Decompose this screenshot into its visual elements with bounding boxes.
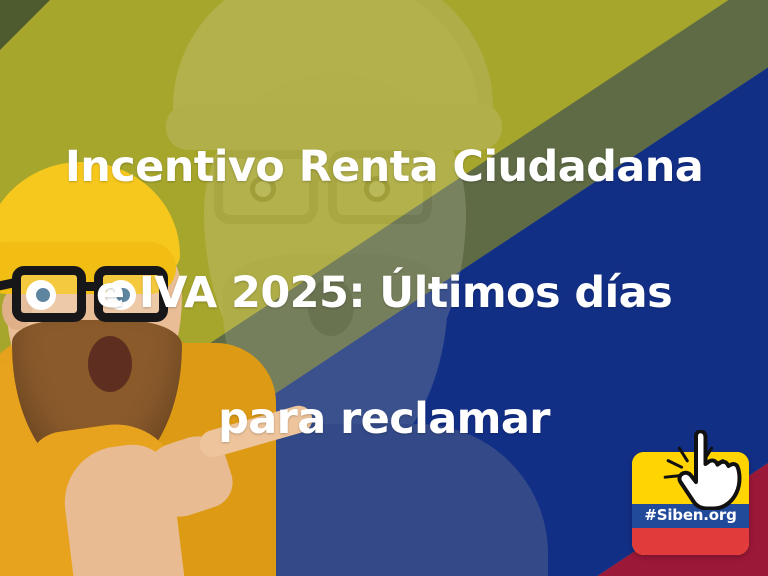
headline: Incentivo Renta Ciudadana e IVA 2025: Úl… xyxy=(0,104,768,482)
flag-band-red xyxy=(632,528,749,555)
headline-line-2: e IVA 2025: Últimos días xyxy=(0,230,768,356)
headline-line-1: Incentivo Renta Ciudadana xyxy=(0,104,768,230)
siben-logo[interactable]: #Siben.org xyxy=(632,452,749,555)
click-burst-icon xyxy=(654,412,750,512)
pointing-hand-cursor-icon xyxy=(674,430,746,510)
promo-banner: Incentivo Renta Ciudadana e IVA 2025: Úl… xyxy=(0,0,768,576)
